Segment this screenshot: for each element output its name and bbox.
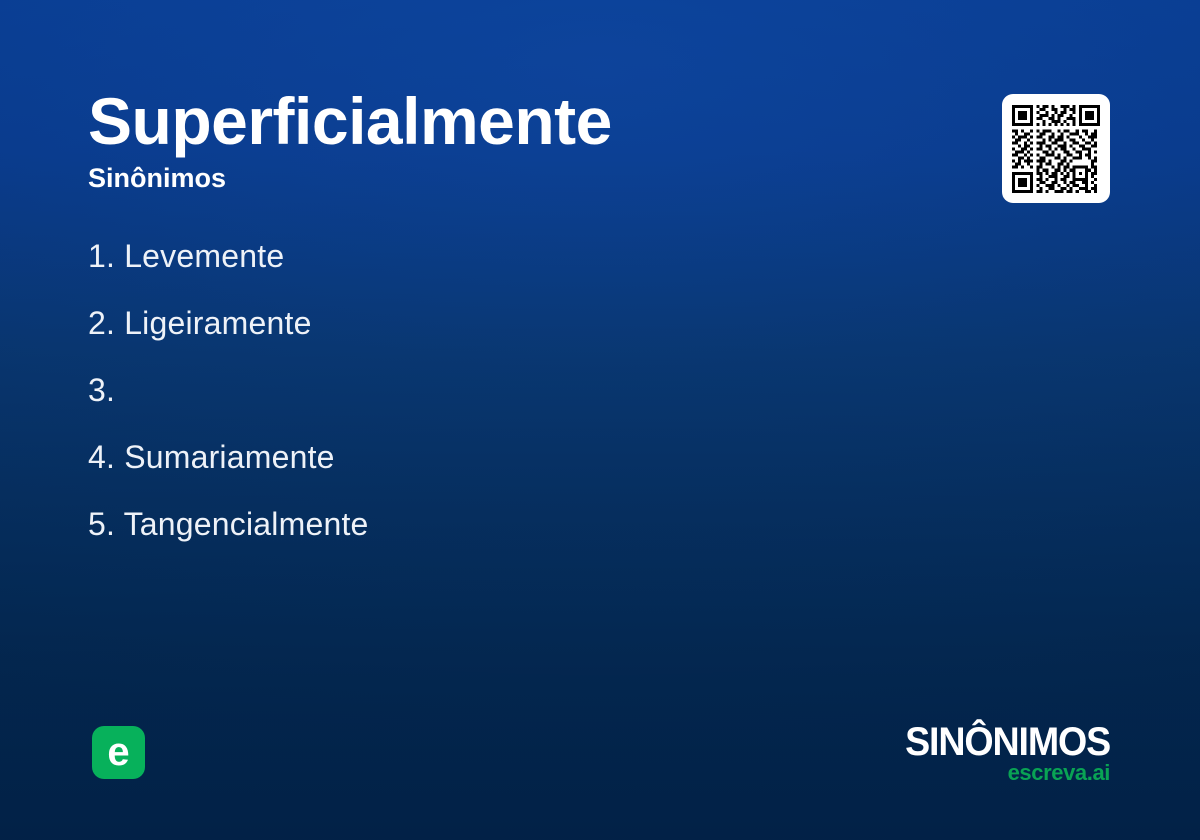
qr-code-panel[interactable] [1002, 94, 1110, 203]
brand-lockup[interactable]: SINÔNIMOS escreva.ai [892, 721, 1110, 785]
escreva-app-badge-icon[interactable]: e [92, 726, 145, 779]
heading-block: Superficialmente Sinônimos [88, 84, 948, 194]
list-item: 4. Sumariamente [88, 437, 908, 477]
list-item: 5. Tangencialmente [88, 504, 908, 544]
list-item-index: 1. [88, 238, 115, 274]
list-item-word: Ligeiramente [124, 305, 311, 341]
page-title: Superficialmente [88, 84, 948, 158]
qr-code-icon [1012, 105, 1100, 193]
list-item: 2. Ligeiramente [88, 303, 908, 343]
list-item: 1. Levemente [88, 236, 908, 276]
synonym-card: Superficialmente Sinônimos 1. Levemente … [0, 0, 1200, 840]
brand-name: SINÔNIMOS [905, 721, 1110, 763]
app-badge-letter: e [107, 732, 129, 772]
list-item-word: Tangencialmente [124, 506, 369, 542]
list-item-index: 3. [88, 372, 115, 408]
list-item-word: Levemente [124, 238, 284, 274]
brand-sub: escreva.ai [892, 761, 1110, 785]
list-item-index: 4. [88, 439, 115, 475]
list-item-word: Sumariamente [124, 439, 335, 475]
list-item-index: 2. [88, 305, 115, 341]
list-item: 3. [88, 370, 908, 410]
synonyms-list: 1. Levemente 2. Ligeiramente 3. 4. Sumar… [88, 236, 908, 571]
page-subtitle: Sinônimos [88, 162, 948, 194]
list-item-index: 5. [88, 506, 115, 542]
